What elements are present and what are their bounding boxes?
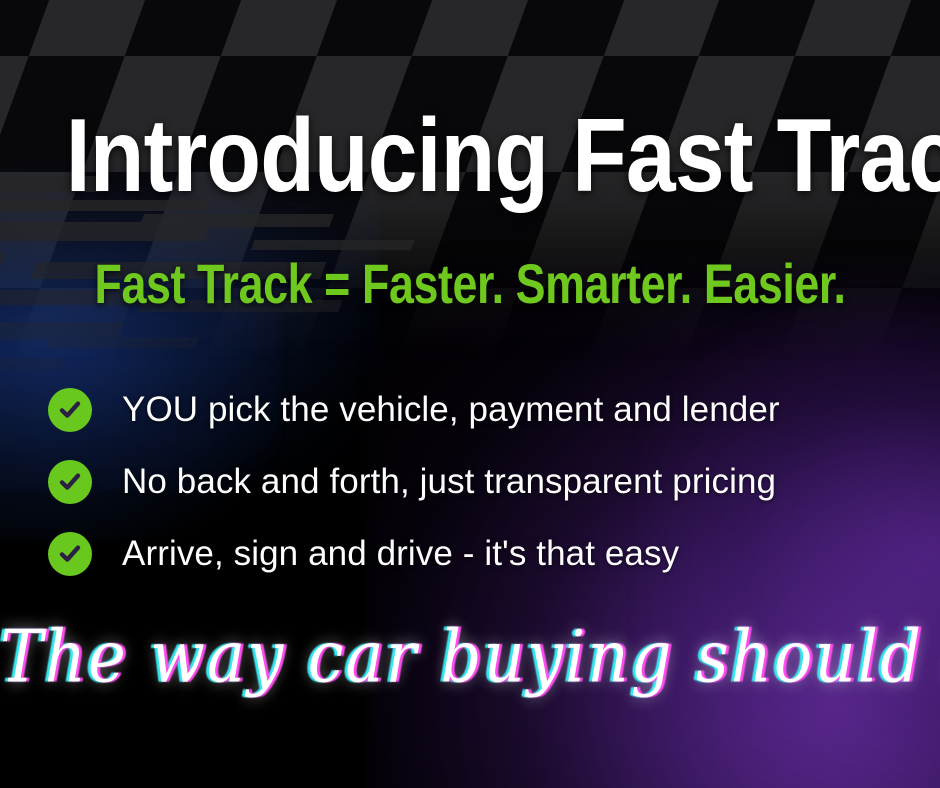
flag-cell	[699, 0, 837, 56]
motion-streak	[45, 338, 199, 348]
flag-cell	[29, 0, 167, 56]
flag-cell	[125, 0, 263, 56]
flag-cell	[795, 0, 933, 56]
motion-streak	[0, 358, 67, 371]
motion-streak	[0, 322, 125, 340]
tagline-text: The way car buying should be.	[0, 617, 940, 700]
subtitle: Fast Track = Faster. Smarter. Easier.	[94, 256, 846, 312]
poster-canvas: Introducing Fast Track Fast Track = Fast…	[0, 0, 940, 788]
flag-cell	[0, 56, 29, 172]
flag-cell	[316, 0, 454, 56]
flag-cell	[508, 0, 646, 56]
benefit-item: No back and forth, just transparent pric…	[48, 446, 898, 518]
benefit-item: YOU pick the vehicle, payment and lender	[48, 374, 898, 446]
benefit-text: No back and forth, just transparent pric…	[122, 464, 776, 501]
benefit-text: YOU pick the vehicle, payment and lender	[122, 392, 780, 429]
check-circle-icon	[48, 532, 92, 576]
flag-row	[0, 0, 940, 56]
benefit-item: Arrive, sign and drive - it's that easy	[48, 518, 898, 590]
benefit-text: Arrive, sign and drive - it's that easy	[122, 536, 679, 573]
tagline-container: The way car buying should be. The way ca…	[0, 612, 940, 722]
motion-streak	[251, 240, 415, 250]
flag-cell	[604, 0, 742, 56]
flag-cell	[0, 288, 40, 404]
motion-streak	[139, 214, 334, 227]
flag-cell	[412, 0, 550, 56]
benefits-list: YOU pick the vehicle, payment and lender…	[48, 374, 898, 590]
check-circle-icon	[48, 460, 92, 504]
motion-streak	[0, 252, 5, 266]
check-circle-icon	[48, 388, 92, 432]
tagline: The way car buying should be. The way ca…	[0, 606, 940, 710]
motion-streak	[0, 222, 211, 241]
page-title: Introducing Fast Track	[66, 104, 874, 208]
flag-cell	[891, 0, 940, 56]
flag-cell	[221, 0, 359, 56]
flag-cell	[0, 0, 71, 56]
